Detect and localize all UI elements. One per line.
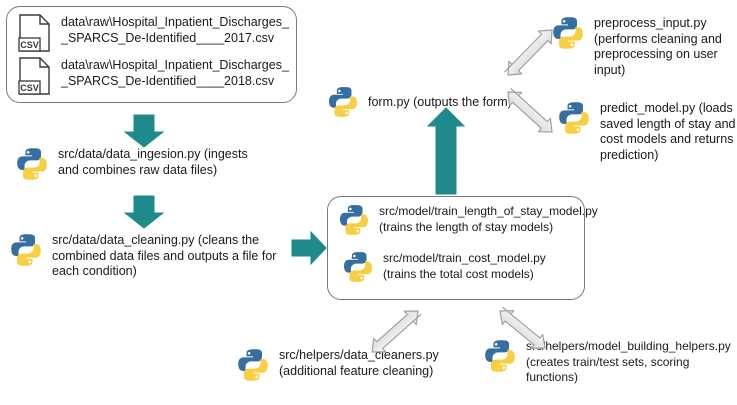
double-arrow-head-group xyxy=(366,24,558,359)
raw-data-file-2017: CSV data\raw\Hospital_Inpatient_Discharg… xyxy=(18,14,290,52)
connector-cleaning-to-models xyxy=(292,232,326,264)
csv-file-icon: CSV xyxy=(18,57,52,95)
python-logo-icon xyxy=(8,232,44,268)
python-logo-icon xyxy=(482,338,518,374)
node-model-building-helpers-label: src/helpers/model_building_helpers.py (c… xyxy=(526,338,731,386)
node-data-ingesion[interactable]: src/data/data_ingesion.py (ingests and c… xyxy=(14,146,264,182)
node-form[interactable]: form.py (outputs the form) xyxy=(326,85,526,119)
node-data-ingesion-label: src/data/data_ingesion.py (ingests and c… xyxy=(58,146,248,178)
python-logo-icon xyxy=(550,15,586,51)
node-train-length-of-stay-model[interactable]: src/model/train_length_of_stay_model.py … xyxy=(337,203,581,237)
node-data-cleaners[interactable]: src/helpers/data_cleaners.py (additional… xyxy=(235,347,465,383)
svg-text:CSV: CSV xyxy=(20,40,39,50)
node-preprocess-input-label: preprocess_input.py (performs cleaning a… xyxy=(594,15,722,78)
node-data-cleaning-label: src/data/data_cleaning.py (cleans the co… xyxy=(52,232,276,280)
node-train-length-of-stay-model-label: src/model/train_length_of_stay_model.py … xyxy=(379,203,598,235)
node-data-cleaners-label: src/helpers/data_cleaners.py (additional… xyxy=(279,347,439,379)
node-preprocess-input[interactable]: preprocess_input.py (performs cleaning a… xyxy=(550,15,735,78)
raw-data-file-2018: CSV data\raw\Hospital_Inpatient_Discharg… xyxy=(18,57,290,95)
python-logo-icon xyxy=(326,85,360,119)
diagram-canvas: CSV data\raw\Hospital_Inpatient_Discharg… xyxy=(0,0,737,405)
connector-raw-to-ingesion xyxy=(125,115,163,147)
node-predict-model-label: predict_model.py (loads saved length of … xyxy=(600,100,736,163)
csv-file-icon: CSV xyxy=(18,14,52,52)
python-logo-icon xyxy=(556,100,592,136)
node-predict-model[interactable]: predict_model.py (loads saved length of … xyxy=(556,100,736,163)
node-train-cost-model[interactable]: src/model/train_cost_model.py (trains th… xyxy=(341,250,581,284)
python-logo-icon xyxy=(14,146,50,182)
raw-data-file-label: data\raw\Hospital_Inpatient_Discharges_ … xyxy=(61,14,289,46)
node-train-cost-model-label: src/model/train_cost_model.py (trains th… xyxy=(383,250,546,282)
connector-models-to-form xyxy=(428,108,464,194)
python-logo-icon xyxy=(341,250,375,284)
raw-data-file-label: data\raw\Hospital_Inpatient_Discharges_ … xyxy=(61,57,289,89)
svg-text:CSV: CSV xyxy=(20,83,39,93)
node-form-label: form.py (outputs the form) xyxy=(368,94,512,111)
python-logo-icon xyxy=(337,203,371,237)
node-model-building-helpers[interactable]: src/helpers/model_building_helpers.py (c… xyxy=(482,338,737,386)
node-data-cleaning[interactable]: src/data/data_cleaning.py (cleans the co… xyxy=(8,232,293,280)
python-logo-icon xyxy=(235,347,271,383)
connector-ingesion-to-cleaning xyxy=(125,196,163,228)
